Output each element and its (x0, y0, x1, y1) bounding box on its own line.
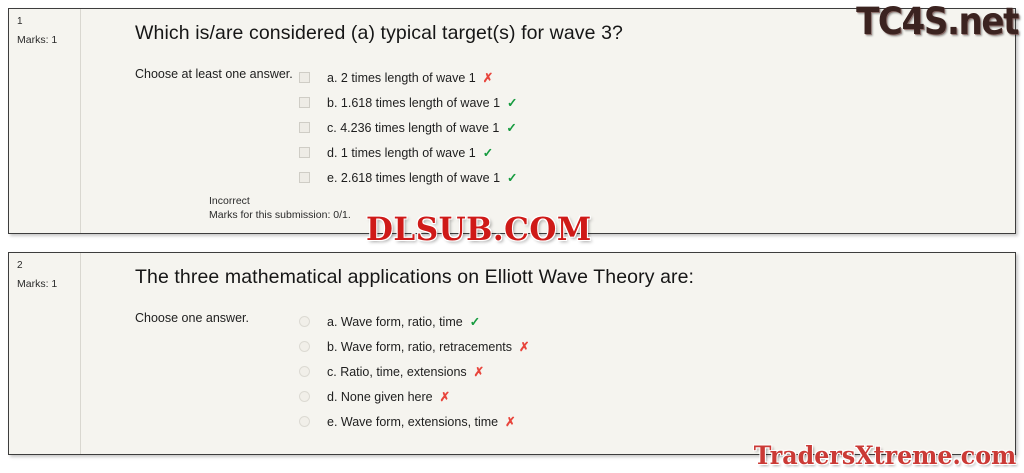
option-1a-control[interactable] (299, 72, 327, 83)
quiz-review-page: 1 Marks: 1 Which is/are considered (a) t… (0, 0, 1024, 473)
check-icon: ✓ (507, 95, 517, 111)
option-row-2e[interactable]: e. Wave form, extensions, time ✗ (299, 409, 1005, 434)
option-1b-control[interactable] (299, 97, 327, 108)
option-1c-label: c. 4.236 times length of wave 1 (327, 120, 499, 136)
check-icon: ✓ (470, 314, 480, 330)
cross-icon: ✗ (483, 70, 493, 86)
question-block-2: 2 Marks: 1 The three mathematical applic… (8, 252, 1016, 455)
option-1a-label: a. 2 times length of wave 1 (327, 70, 476, 86)
option-2a-label: a. Wave form, ratio, time (327, 314, 463, 330)
question-1-body: Which is/are considered (a) typical targ… (83, 9, 1015, 233)
question-2-answers: Choose one answer. a. Wave form, ratio, … (135, 309, 1005, 434)
check-icon: ✓ (507, 170, 517, 186)
option-2c-label: c. Ratio, time, extensions (327, 364, 467, 380)
question-2-inner: 2 Marks: 1 The three mathematical applic… (9, 253, 1015, 454)
check-icon: ✓ (483, 145, 493, 161)
option-row-1e[interactable]: e. 2.618 times length of wave 1 ✓ (299, 165, 1005, 190)
option-2b-label: b. Wave form, ratio, retracements (327, 339, 512, 355)
option-2d-label: d. None given here (327, 389, 433, 405)
question-1-number: 1 (17, 16, 80, 28)
cross-icon: ✗ (474, 364, 484, 380)
question-1-meta: 1 Marks: 1 (9, 9, 81, 233)
radio-icon[interactable] (299, 341, 310, 352)
question-2-number: 2 (17, 260, 80, 272)
option-2d-control[interactable] (299, 391, 327, 402)
option-1e-control[interactable] (299, 172, 327, 183)
question-1-answers: Choose at least one answer. a. 2 times l… (135, 65, 1005, 190)
option-row-1b[interactable]: b. 1.618 times length of wave 1 ✓ (299, 90, 1005, 115)
option-1d-control[interactable] (299, 147, 327, 158)
question-2-meta: 2 Marks: 1 (9, 253, 81, 454)
question-2-title: The three mathematical applications on E… (135, 265, 1005, 289)
check-icon: ✓ (506, 120, 516, 136)
question-1-prompt: Choose at least one answer. (135, 65, 299, 82)
question-1-option-list: a. 2 times length of wave 1 ✗ b. 1.618 t… (299, 65, 1005, 190)
cross-icon: ✗ (440, 389, 450, 405)
question-2-body: The three mathematical applications on E… (83, 253, 1015, 454)
checkbox-icon[interactable] (299, 172, 310, 183)
option-2e-label: e. Wave form, extensions, time (327, 414, 498, 430)
question-1-feedback: Incorrect Marks for this submission: 0/1… (209, 194, 351, 222)
cross-icon: ✗ (519, 339, 529, 355)
option-row-2d[interactable]: d. None given here ✗ (299, 384, 1005, 409)
radio-icon[interactable] (299, 416, 310, 427)
option-1e-label: e. 2.618 times length of wave 1 (327, 170, 500, 186)
option-1d-label: d. 1 times length of wave 1 (327, 145, 476, 161)
option-row-1c[interactable]: c. 4.236 times length of wave 1 ✓ (299, 115, 1005, 140)
checkbox-icon[interactable] (299, 122, 310, 133)
option-row-2c[interactable]: c. Ratio, time, extensions ✗ (299, 359, 1005, 384)
option-row-1a[interactable]: a. 2 times length of wave 1 ✗ (299, 65, 1005, 90)
option-1b-label: b. 1.618 times length of wave 1 (327, 95, 500, 111)
radio-icon[interactable] (299, 366, 310, 377)
checkbox-icon[interactable] (299, 72, 310, 83)
option-row-2b[interactable]: b. Wave form, ratio, retracements ✗ (299, 334, 1005, 359)
question-2-option-list: a. Wave form, ratio, time ✓ b. Wave form… (299, 309, 1005, 434)
option-row-1d[interactable]: d. 1 times length of wave 1 ✓ (299, 140, 1005, 165)
question-2-prompt: Choose one answer. (135, 309, 299, 326)
question-1-inner: 1 Marks: 1 Which is/are considered (a) t… (9, 9, 1015, 233)
cross-icon: ✗ (505, 414, 515, 430)
option-2b-control[interactable] (299, 341, 327, 352)
checkbox-icon[interactable] (299, 97, 310, 108)
question-block-1: 1 Marks: 1 Which is/are considered (a) t… (8, 8, 1016, 234)
radio-icon[interactable] (299, 391, 310, 402)
option-2e-control[interactable] (299, 416, 327, 427)
option-2a-control[interactable] (299, 316, 327, 327)
question-1-title: Which is/are considered (a) typical targ… (135, 21, 1005, 45)
question-2-marks: Marks: 1 (17, 277, 80, 291)
option-row-2a[interactable]: a. Wave form, ratio, time ✓ (299, 309, 1005, 334)
question-1-feedback-marks: Marks for this submission: 0/1. (209, 208, 351, 222)
option-1c-control[interactable] (299, 122, 327, 133)
checkbox-icon[interactable] (299, 147, 310, 158)
question-1-feedback-status: Incorrect (209, 194, 351, 208)
radio-icon[interactable] (299, 316, 310, 327)
option-2c-control[interactable] (299, 366, 327, 377)
question-1-marks: Marks: 1 (17, 33, 80, 47)
